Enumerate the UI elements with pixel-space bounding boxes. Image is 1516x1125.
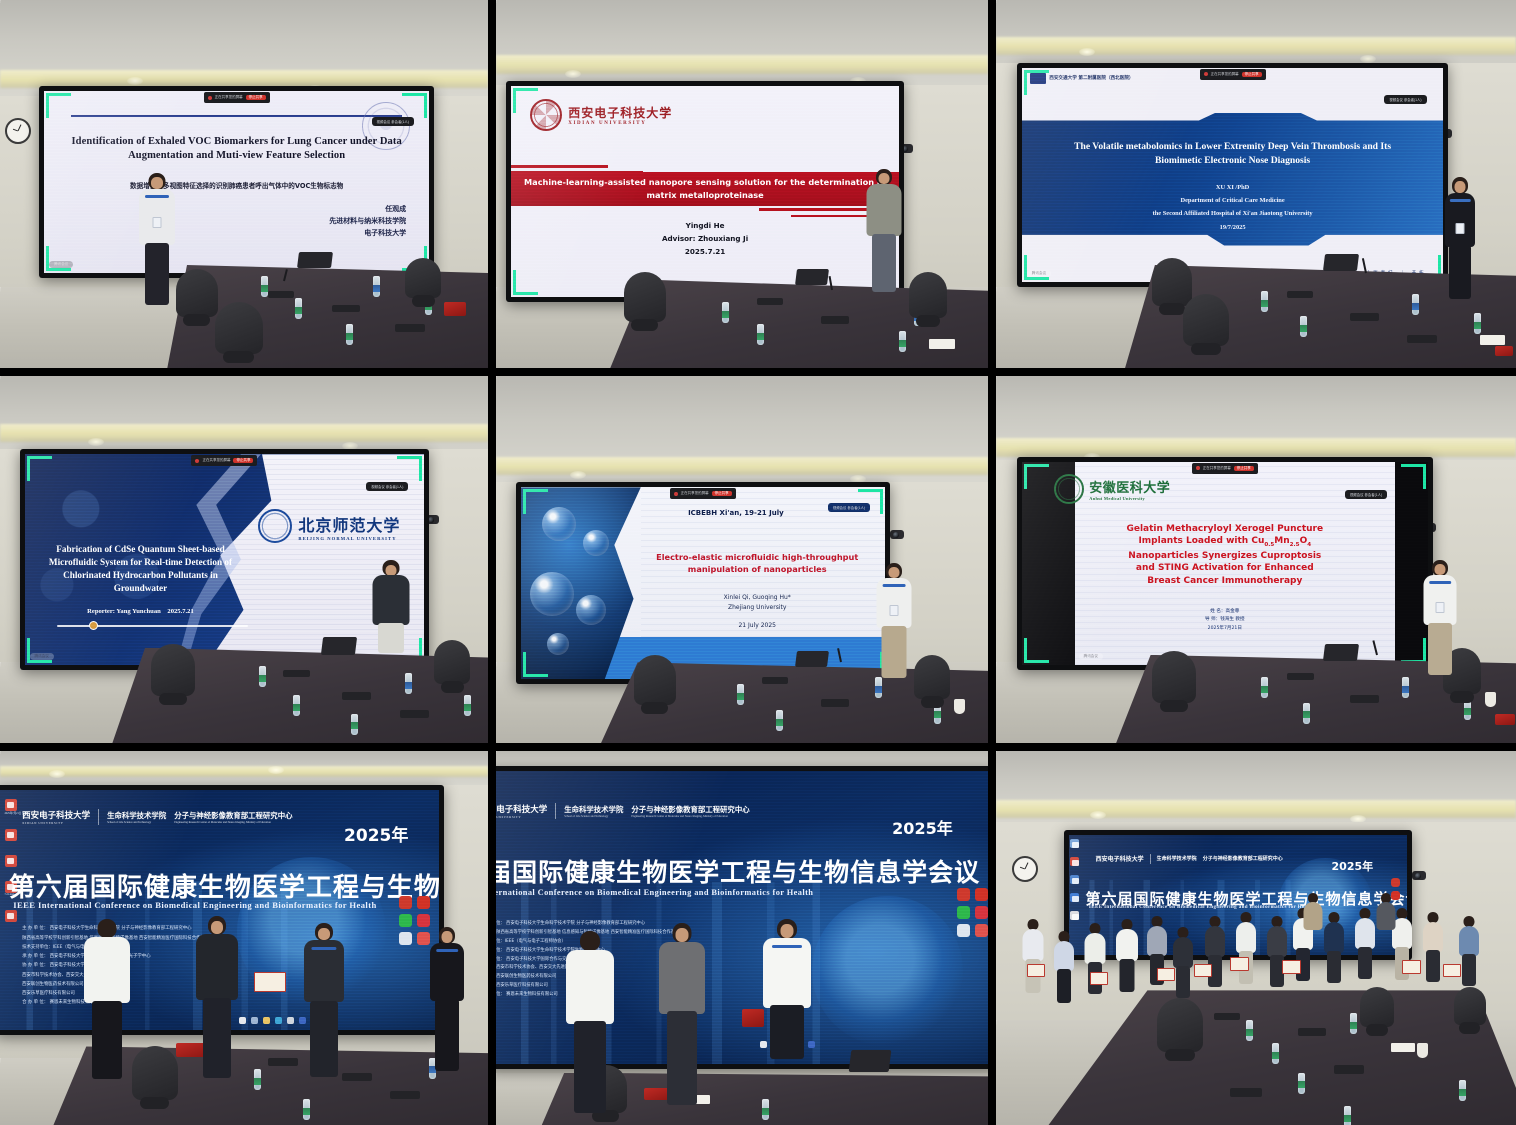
laptop — [321, 637, 357, 655]
author-name: 任观成 — [329, 204, 406, 216]
slide-meta-block: XU XI /PhD Department of Critical Care M… — [1056, 181, 1410, 234]
stop-share-button[interactable]: 停止共享 — [712, 491, 732, 496]
laptop — [795, 651, 829, 667]
paper-sheet — [1391, 1043, 1415, 1052]
presenter — [865, 169, 903, 301]
chair — [1183, 294, 1229, 346]
edge-icon[interactable] — [275, 1017, 282, 1024]
university-name-cn: 西安电子科技大学 — [1096, 854, 1144, 863]
gift-box — [444, 302, 466, 316]
university-name-en: XIDIAN UNIVERSITY — [22, 821, 90, 825]
affiliation: Zhejiang University — [644, 603, 870, 614]
video-file-icon[interactable] — [5, 855, 17, 867]
water-bottle — [1474, 313, 1481, 334]
photo-panel-8[interactable]: 电子科技大学 UNIVERSITY 生命科学技术学院 School of Lif… — [496, 751, 988, 1125]
monitor-icon[interactable] — [1070, 839, 1079, 848]
ceiling-camera-icon — [890, 530, 904, 539]
center-name-cn: 分子与神经影像教育部工程研究中心 — [631, 804, 749, 815]
organizer-line: 位： 西安电子科技大学生命科学技术学院 分子与神经影像教育部工程研究中心 — [496, 920, 679, 929]
slide-reporter: Reporter: Yang Yunchuan 2025.7.21 — [37, 608, 245, 615]
app-icon[interactable] — [1070, 911, 1079, 920]
certificate — [1443, 964, 1461, 977]
center-name-en: Engineering Research Center of Molecular… — [174, 821, 292, 824]
slide-date: 2025年7月21日 — [1022, 625, 1428, 633]
water-bottle — [1261, 291, 1268, 312]
water-bottle — [1402, 677, 1409, 698]
water-bottle — [1300, 316, 1307, 337]
laptop — [849, 1050, 892, 1072]
zotero-icon[interactable] — [957, 888, 970, 901]
photo-panel-9[interactable]: 西安电子科技大学 生命科学技术学院 分子与神经影像教育部工程研究中心 2025年… — [996, 751, 1516, 1125]
water-bottle — [254, 1069, 261, 1090]
zy-icon[interactable] — [417, 896, 430, 909]
certificate — [1282, 960, 1301, 974]
water-bottle — [1303, 703, 1310, 724]
presenter-name: 姓 名：高金尊 — [1022, 608, 1428, 616]
participants-pill[interactable]: 视频会议 参会者(1人) — [366, 482, 408, 491]
recording-dot-icon — [1196, 466, 1200, 470]
slide-gelatin-xerogel: 安徽医科大学 Anhui Medical University Gelatin … — [1022, 462, 1428, 665]
share-status-label: 正在共享您的屏幕 — [202, 458, 230, 463]
certificate — [1027, 964, 1045, 977]
group-member — [1303, 893, 1323, 933]
recording-dot-icon — [208, 96, 212, 100]
share-status-label: 正在共享您的屏幕 — [215, 95, 243, 100]
water-bottle — [1350, 1013, 1357, 1034]
university-name-cn: 西安电子科技大学 — [568, 104, 672, 121]
chair — [624, 272, 666, 322]
water-bottle — [303, 1099, 310, 1120]
affiliation-name: the Second Affiliated Hospital of Xi'an … — [1056, 207, 1410, 220]
author-university: 电子科技大学 — [329, 228, 406, 240]
school-name-en: School of Life Science and Technology — [107, 821, 166, 824]
water-bottle — [899, 331, 906, 352]
stop-share-button[interactable]: 停止共享 — [246, 95, 266, 100]
reporter-name: Reporter: Yang Yunchuan — [87, 608, 161, 615]
attendee-white-shirt — [83, 919, 131, 1087]
certificate — [1157, 968, 1175, 981]
chair — [405, 258, 441, 298]
center-name-en: Engineering Research Center of Molecular… — [631, 815, 749, 818]
wall-clock — [1012, 856, 1038, 882]
bubbles-graphic — [521, 487, 641, 679]
university-name-en: BEIJING NORMAL UNIVERSITY — [298, 536, 400, 541]
participants-pill[interactable]: 视频会议 参会者(1人) — [1384, 95, 1426, 104]
award-recipient-white-shirt — [762, 919, 812, 1105]
chair — [1152, 651, 1196, 703]
video-file-icon[interactable] — [5, 829, 17, 841]
photo-panel-3[interactable]: 西安交通大学 第二附属医院（西北医院） The Volatile metabol… — [996, 0, 1516, 368]
group-member — [1173, 927, 1194, 999]
title-line-2: Implants Loaded with Cu0.5Mn2.5O4 — [1050, 535, 1399, 550]
water-bottle — [346, 324, 353, 345]
stop-share-button[interactable]: 停止共享 — [233, 458, 253, 463]
school-name-en: School of Life Science and Technology — [564, 815, 623, 818]
slide-title: The Volatile metabolomics in Lower Extre… — [1056, 140, 1410, 168]
paper-cup — [1417, 1043, 1428, 1058]
water-bottle — [373, 276, 380, 297]
wall-clock — [5, 118, 31, 144]
slide-date: 21 July 2025 — [644, 622, 870, 629]
share-status-label: 正在共享您的屏幕 — [681, 491, 709, 496]
water-bottle — [757, 324, 764, 345]
banner-title-cn: 第六届国际健康生物医学工程与生物信息学会议 — [9, 867, 430, 904]
certificate — [1090, 972, 1108, 985]
water-bottle — [776, 710, 783, 731]
group-member — [1053, 931, 1074, 1003]
chair — [634, 655, 676, 705]
start-icon[interactable] — [239, 1017, 246, 1024]
water-bottle — [1459, 1080, 1466, 1101]
paper-sheet — [929, 339, 955, 349]
photo-panel-5[interactable]: ICBEBH Xi'an, 19-21 July Electro-elastic… — [496, 376, 988, 743]
file-icon[interactable] — [957, 924, 970, 937]
led-display[interactable]: 西安交通大学 第二附属医院（西北医院） The Volatile metabol… — [1017, 63, 1449, 287]
title-line-3: Nanoparticles Synergizes Cuproptosis — [1050, 550, 1399, 563]
conference-header: ICBEBH Xi'an, 19-21 July — [688, 509, 784, 517]
gift-box — [1495, 346, 1513, 356]
led-display[interactable]: 安徽医科大学 Anhui Medical University Gelatin … — [1017, 457, 1433, 670]
presenter — [1443, 177, 1477, 305]
paper-sheet — [1480, 335, 1505, 345]
share-status-label: 正在共享您的屏幕 — [1211, 72, 1239, 77]
search-icon[interactable] — [251, 1017, 258, 1024]
title-line-5: Breast Cancer Immunotherapy — [1050, 575, 1399, 588]
slide-title: Gelatin Methacryloyl Xerogel Puncture Im… — [1050, 523, 1399, 588]
led-display[interactable]: ICBEBH Xi'an, 19-21 July Electro-elastic… — [516, 482, 890, 684]
hospital-name: 西安交通大学 第二附属医院（西北医院） — [1049, 75, 1133, 81]
chair — [1157, 998, 1203, 1052]
slide-electro-elastic: ICBEBH Xi'an, 19-21 July Electro-elastic… — [521, 487, 885, 679]
ceiling-camera-icon — [1412, 871, 1426, 880]
led-display[interactable]: Identification of Exhaled VOC Biomarkers… — [39, 86, 434, 277]
water-bottle — [259, 666, 266, 687]
water-bottle — [1412, 294, 1419, 315]
wechat-icon[interactable] — [957, 906, 970, 919]
slide-date: 2025.7.21 — [511, 245, 900, 258]
certificate — [1230, 957, 1249, 971]
chair — [914, 655, 950, 699]
award-recipient — [303, 923, 345, 1083]
water-bottle — [1261, 677, 1268, 698]
presenter — [1422, 560, 1458, 684]
taskbar[interactable] — [149, 1016, 395, 1025]
video-file-icon[interactable] — [1070, 857, 1079, 866]
chair — [434, 640, 470, 684]
laptop — [1323, 254, 1359, 271]
presenter-name: Yingdi He — [511, 219, 900, 232]
screen-share-bar[interactable]: 正在共享您的屏幕 停止共享 — [1200, 69, 1266, 80]
slide-title: Identification of Exhaled VOC Biomarkers… — [71, 135, 402, 163]
zy-icon[interactable] — [975, 888, 988, 901]
advisor-name: Advisor: Zhouxiang Ji — [511, 232, 900, 245]
xidian-logo: 西安电子科技大学 XIDIAN UNIVERSITY — [530, 99, 672, 131]
water-bottle — [464, 695, 471, 716]
university-name-en: UNIVERSITY — [496, 815, 547, 819]
banner-year: 2025年 — [344, 821, 408, 846]
desktop-shortcut-grid[interactable] — [399, 896, 430, 945]
chair — [1360, 987, 1394, 1027]
university-name-cn: 西安电子科技大学 — [22, 809, 90, 821]
slide-author-block: 任观成 先进材料与纳米科技学院 电子科技大学 — [329, 204, 406, 240]
video-file-icon[interactable] — [5, 910, 17, 922]
meeting-watermark: 腾讯会议 — [1079, 653, 1103, 660]
participants-pill[interactable]: 视频会议 参会者(1人) — [1345, 490, 1387, 499]
water-bottle — [261, 276, 268, 297]
group-member — [1376, 893, 1396, 933]
authors: Xinlei Qi, Guoqing Hu* — [644, 593, 870, 604]
bnu-logo: 北京师范大学 BEIJING NORMAL UNIVERSITY — [258, 509, 400, 543]
slide-meta-block: Xinlei Qi, Guoqing Hu* Zhejiang Universi… — [644, 593, 870, 614]
title-line-1: Gelatin Methacryloyl Xerogel Puncture — [1050, 523, 1399, 536]
wechat-icon[interactable] — [399, 914, 412, 927]
certificate — [1402, 960, 1421, 974]
screen-share-bar[interactable]: 正在共享您的屏幕 停止共享 — [1192, 463, 1258, 474]
slide-title: Machine-learning-assisted nanopore sensi… — [511, 176, 900, 202]
ahmu-logo: 安徽医科大学 Anhui Medical University — [1054, 474, 1170, 504]
presenter — [137, 173, 177, 321]
zotero-icon[interactable] — [399, 896, 412, 909]
qq-icon[interactable] — [975, 924, 988, 937]
banner-year: 2025年 — [1332, 858, 1374, 874]
presenter-dark-shirt — [195, 916, 239, 1086]
photo-collage-grid: Identification of Exhaled VOC Biomarkers… — [0, 0, 1516, 1125]
chair — [176, 269, 218, 317]
center-name-cn: 分子与神经影像教育部工程研究中心 — [1203, 855, 1283, 862]
bnu-seal-icon — [258, 509, 292, 543]
photo-panel-1[interactable]: Identification of Exhaled VOC Biomarkers… — [0, 0, 488, 368]
department-name: Department of Critical Care Medicine — [1056, 194, 1410, 207]
university-name-en: XIDIAN UNIVERSITY — [568, 121, 672, 126]
presenter — [875, 563, 913, 687]
banner-title-cn: 届国际健康生物医学工程与生物信息学会议 — [496, 853, 983, 889]
certificate — [254, 972, 286, 992]
zotero-icon[interactable] — [1391, 878, 1400, 887]
file-icon[interactable] — [399, 932, 412, 945]
slide-cdse-quantum: 北京师范大学 BEIJING NORMAL UNIVERSITY Fabrica… — [25, 454, 425, 664]
slide-date: 19/7/2025 — [1056, 221, 1410, 234]
recording-dot-icon — [195, 459, 199, 463]
folder-icon[interactable] — [1070, 875, 1079, 884]
school-name-cn: 生命科学技术学院 — [564, 804, 623, 815]
stop-share-button[interactable]: 停止共享 — [1242, 72, 1262, 77]
photo-panel-4[interactable]: 北京师范大学 BEIJING NORMAL UNIVERSITY Fabrica… — [0, 376, 488, 743]
slide-meta-block: 姓 名：高金尊 导 师：钱海生 教授 2025年7月21日 — [1022, 608, 1428, 633]
title-line-4: and STING Activation for Enhanced — [1050, 562, 1399, 575]
author-affiliation: 先进材料与纳米科技学院 — [329, 216, 406, 228]
screen-share-bar[interactable]: 正在共享您的屏幕 停止共享 — [191, 455, 257, 466]
explorer-icon[interactable] — [263, 1017, 270, 1024]
water-bottle — [1272, 1043, 1279, 1064]
group-member — [1116, 919, 1139, 993]
weibo-icon[interactable] — [975, 906, 988, 919]
attendee-white-shirt — [565, 931, 615, 1121]
group-member — [1022, 919, 1044, 993]
paper-cup — [954, 699, 965, 714]
banner-title-en: nternational Conference on Biomedical En… — [496, 888, 983, 897]
banner-year: 2025年 — [892, 815, 953, 839]
screen-share-bar[interactable]: 正在共享您的屏幕 停止共享 — [204, 92, 270, 103]
center-name-cn: 分子与神经影像教育部工程研究中心 — [174, 810, 292, 821]
stop-share-button[interactable]: 停止共享 — [1234, 466, 1254, 471]
slider-knob[interactable] — [89, 621, 98, 630]
slide-title: Fabrication of CdSe Quantum Sheet-based … — [37, 543, 245, 595]
chair — [215, 302, 263, 354]
group-member — [1324, 912, 1345, 984]
attendee-black-dress — [429, 927, 465, 1077]
recording-dot-icon — [1204, 72, 1208, 76]
chair — [151, 644, 195, 696]
chair — [909, 272, 947, 318]
slide-dvt-metabolomics: 西安交通大学 第二附属医院（西北医院） The Volatile metabol… — [1022, 68, 1444, 282]
mail-icon[interactable] — [287, 1017, 294, 1024]
desktop-shortcut-grid[interactable] — [957, 888, 988, 937]
group-member — [1459, 916, 1480, 987]
group-member — [1235, 912, 1256, 985]
photo-panel-6[interactable]: 安徽医科大学 Anhui Medical University Gelatin … — [996, 376, 1516, 743]
qq-icon[interactable] — [417, 932, 430, 945]
water-bottle — [1344, 1106, 1351, 1125]
university-name-cn: 电子科技大学 — [496, 803, 547, 815]
share-status-label: 正在共享您的屏幕 — [1203, 466, 1231, 471]
school-name-cn: 生命科学技术学院 — [107, 810, 166, 821]
chair — [132, 1046, 178, 1100]
title-band: Machine-learning-assisted nanopore sensi… — [511, 172, 900, 206]
gift-box — [1495, 714, 1515, 725]
presenter-grey-shirt — [658, 923, 706, 1115]
video-file-icon[interactable] — [5, 799, 17, 811]
laptop — [795, 269, 829, 285]
university-name-en: Anhui Medical University — [1089, 496, 1170, 501]
slide-subtitle-cn: 数据增强和多视图特征选择的识别肺癌患者呼出气体中的VOC生物标志物 — [63, 180, 410, 190]
group-member — [1422, 912, 1443, 983]
photo-panel-2[interactable]: 西安电子科技大学 XIDIAN UNIVERSITY Machine-learn… — [496, 0, 988, 368]
paper-cup — [1485, 692, 1496, 707]
water-bottle — [737, 684, 744, 705]
advisor-name: 导 师：钱海生 教授 — [1022, 616, 1428, 624]
university-name-cn: 安徽医科大学 — [1089, 477, 1170, 496]
school-name-cn: 生命科学技术学院 — [1157, 855, 1197, 862]
certificate — [1194, 964, 1212, 977]
browser-icon[interactable] — [1070, 893, 1079, 902]
group-member — [1355, 908, 1376, 980]
certificate-held — [742, 1009, 764, 1027]
chair — [1152, 258, 1192, 306]
water-bottle — [351, 714, 358, 735]
water-bottle — [1298, 1073, 1305, 1094]
banner-title-en: IEEE International Conference on Biomedi… — [13, 900, 430, 910]
group-member — [1266, 916, 1287, 988]
presenter-name: XU XI /PhD — [1056, 181, 1410, 194]
photo-panel-7[interactable]: 2025年7月21日 会议 7.21.mp4 西安电子科技大学 XIDIAN U… — [0, 751, 488, 1125]
slide-meta-block: Yingdi He Advisor: Zhouxiang Ji 2025.7.2… — [511, 219, 900, 259]
laptop — [297, 252, 333, 268]
banner-title-en: IEEE International Conference on Biomedi… — [1089, 905, 1400, 910]
recording-dot-icon — [674, 492, 678, 496]
weibo-icon[interactable] — [417, 914, 430, 927]
slide-date: 2025.7.21 — [167, 608, 193, 615]
water-bottle — [293, 695, 300, 716]
slide-nanopore-sensing: 西安电子科技大学 XIDIAN UNIVERSITY Machine-learn… — [511, 86, 900, 297]
led-display[interactable]: 西安电子科技大学 XIDIAN UNIVERSITY Machine-learn… — [506, 81, 905, 302]
screen-share-bar[interactable]: 正在共享您的屏幕 停止共享 — [670, 488, 736, 499]
progress-slider[interactable] — [57, 625, 249, 627]
ahmu-seal-icon — [1054, 474, 1084, 504]
slide-voc-biomarkers: Identification of Exhaled VOC Biomarkers… — [44, 91, 429, 272]
water-bottle — [722, 302, 729, 323]
water-bottle — [295, 298, 302, 319]
presenter — [371, 560, 411, 686]
led-display[interactable]: 北京师范大学 BEIJING NORMAL UNIVERSITY Fabrica… — [20, 449, 430, 669]
chair — [1454, 987, 1486, 1025]
laptop — [1323, 644, 1359, 661]
water-bottle — [1246, 1020, 1253, 1041]
university-name-cn: 北京师范大学 — [298, 512, 400, 536]
slide-title: Electro-elastic microfluidic high-throug… — [644, 551, 870, 576]
